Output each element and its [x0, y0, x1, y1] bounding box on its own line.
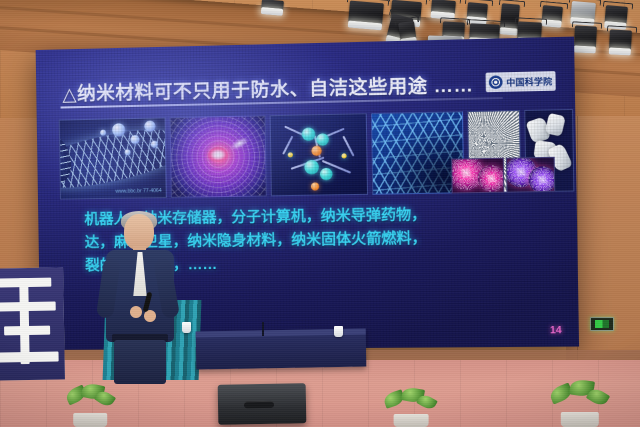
stage-light-icon	[609, 29, 632, 50]
presenter-legs	[114, 340, 166, 384]
presenter-head	[124, 214, 154, 250]
screenshot-root: △纳米材料可不只用于防水、自洁这些用途 …… 中国科学院 www.bbc.br …	[0, 0, 640, 427]
stage-light-icon	[574, 25, 597, 48]
panel-carbon-nanotube-render: www.bbc.br 77-4064	[59, 117, 167, 199]
stage-light-icon	[261, 0, 284, 11]
white-character-banner	[0, 267, 65, 380]
panel-violet-nanoflower-micrograph	[506, 157, 555, 193]
panel-molecular-model-render	[270, 113, 368, 196]
water-cup	[334, 326, 343, 337]
panel-pink-nanoflower-micrograph	[451, 158, 504, 194]
panel-nanotube-axial-view-render	[170, 115, 267, 198]
stage-monitor-speaker	[218, 383, 307, 425]
panel-watermark: www.bbc.br 77-4064	[115, 188, 161, 195]
microphone-stand	[262, 322, 264, 336]
potted-plant	[382, 390, 440, 427]
presenter-hand-left	[130, 306, 142, 318]
slide-page-number: 14	[550, 325, 562, 336]
stage-light-icon	[604, 5, 627, 25]
potted-plant	[62, 386, 118, 427]
stage-light-icon	[467, 2, 488, 20]
water-cup	[182, 322, 191, 333]
exit-sign-icon	[590, 317, 614, 331]
potted-plant	[548, 382, 612, 427]
cas-logo: 中国科学院	[486, 71, 556, 92]
panel-graphene-sheet-render	[371, 111, 464, 195]
presenter	[96, 214, 182, 380]
stage-light-icon	[348, 1, 384, 26]
cas-logo-text: 中国科学院	[506, 75, 552, 88]
stage-light-icon	[570, 1, 595, 21]
stage-light-icon	[398, 21, 416, 41]
stage-light-icon	[431, 0, 456, 15]
cas-emblem-icon	[489, 75, 503, 89]
